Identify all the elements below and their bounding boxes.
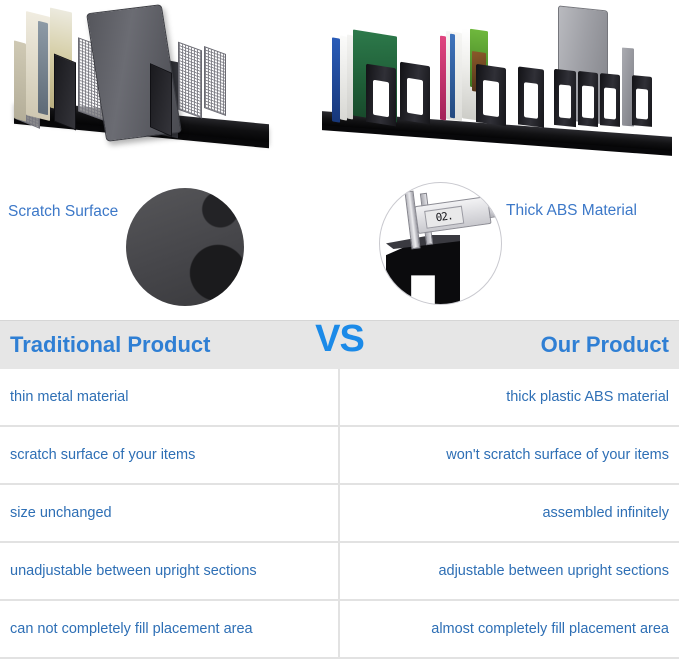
comparison-body: thin metal material thick plastic ABS ma… xyxy=(0,369,679,659)
scratch-surface-label: Scratch Surface xyxy=(8,203,118,221)
traditional-feature: thin metal material xyxy=(0,369,349,425)
traditional-feature: unadjustable between upright sections xyxy=(0,543,349,599)
book-item xyxy=(450,34,455,119)
book-item xyxy=(38,21,48,115)
thick-abs-material-label: Thick ABS Material xyxy=(506,202,637,220)
scratch-surface-closeup xyxy=(126,188,244,306)
traditional-feature: scratch surface of your items xyxy=(0,427,349,483)
traditional-feature: can not completely fill placement area xyxy=(0,601,349,657)
organizer-divider xyxy=(54,54,76,131)
mesh-divider xyxy=(204,46,226,116)
callout-band xyxy=(0,180,679,310)
divider-slot xyxy=(483,80,500,117)
column-divider xyxy=(338,369,340,659)
traditional-product-photo xyxy=(0,0,300,180)
divider-slot xyxy=(559,84,571,119)
abs-divider xyxy=(366,64,396,127)
abs-divider xyxy=(400,62,430,125)
product-photo-band xyxy=(0,0,679,180)
divider-slot xyxy=(636,89,647,120)
column-header-traditional: Traditional Product xyxy=(0,321,349,369)
abs-divider xyxy=(476,64,506,126)
abs-divider xyxy=(578,71,598,127)
thick-abs-material-closeup: 02. xyxy=(379,182,502,305)
traditional-feature: size unchanged xyxy=(0,485,349,541)
abs-divider xyxy=(600,73,620,127)
abs-divider xyxy=(632,75,652,127)
divider-slot xyxy=(373,80,390,117)
our-feature: thick plastic ABS material xyxy=(349,369,679,425)
comparison-table: Traditional Product Our Product VS thin … xyxy=(0,320,679,659)
binder-item xyxy=(332,37,340,122)
column-header-our-product: Our Product xyxy=(349,321,679,369)
divider-slot xyxy=(582,85,593,119)
book-item xyxy=(14,40,26,121)
mesh-divider xyxy=(178,42,202,119)
organizer-divider xyxy=(150,63,172,137)
divider-slot xyxy=(604,87,615,119)
abs-divider xyxy=(518,66,544,127)
divider-slot xyxy=(524,82,539,119)
our-feature: won't scratch surface of your items xyxy=(349,427,679,483)
divider-slot xyxy=(407,78,424,115)
caliper-reading: 02. xyxy=(424,206,464,229)
our-product-photo xyxy=(300,0,679,180)
binder-item xyxy=(340,35,347,120)
our-feature: adjustable between upright sections xyxy=(349,543,679,599)
abs-divider xyxy=(554,69,576,127)
our-feature: almost completely fill placement area xyxy=(349,601,679,657)
our-feature: assembled infinitely xyxy=(349,485,679,541)
comparison-header: Traditional Product Our Product VS xyxy=(0,321,679,369)
